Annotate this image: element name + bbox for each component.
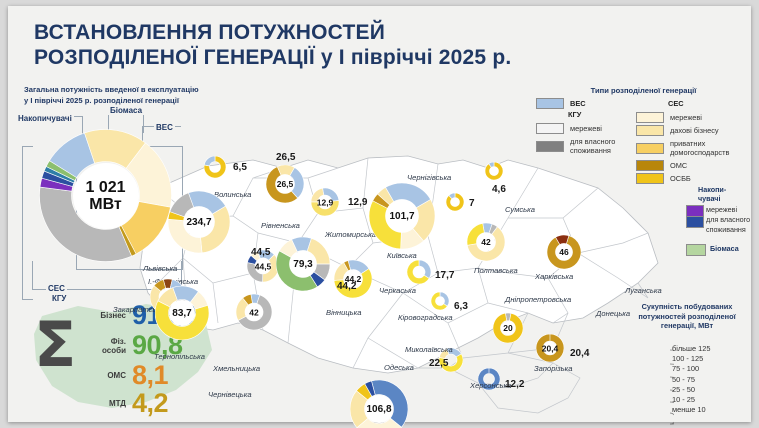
region-donut-center: 12,9 xyxy=(319,196,332,209)
region-value: 12,2 xyxy=(505,379,524,390)
region-label: Сумська xyxy=(505,205,535,214)
legend-acc-label-2: для власного споживання xyxy=(706,215,759,234)
region-label: Луганська xyxy=(625,286,662,295)
size-class: більше 125 xyxy=(672,344,710,354)
legend-label: мережеві xyxy=(670,113,702,122)
region-donut: 79,3 xyxy=(276,237,330,291)
region-donut-center: 79,3 xyxy=(290,251,316,277)
legend-size-arcs xyxy=(614,340,674,426)
swatch-biomass xyxy=(686,244,706,256)
infographic-stage: ВСТАНОВЛЕННЯ ПОТУЖНОСТЕЙ РОЗПОДІЛЕНОЇ ГЕ… xyxy=(0,0,759,428)
region-donut-value: 46 xyxy=(559,247,568,257)
region-value: 6,3 xyxy=(454,301,468,312)
region-donut: 26,5 xyxy=(266,165,304,203)
swatch-ses-business xyxy=(636,125,664,136)
legend-size-title-2: потужностей розподіленої xyxy=(614,312,759,322)
legend-item: мережеві xyxy=(636,112,754,123)
region-donut: 42 xyxy=(236,294,272,330)
region-donut-value: 26,5 xyxy=(277,179,294,189)
region-label: Київська xyxy=(387,251,417,260)
region-label: Харківська xyxy=(535,272,573,281)
title-line-1: ВСТАНОВЛЕННЯ ПОТУЖНОСТЕЙ xyxy=(34,20,554,45)
region-donut: 83,7 xyxy=(155,286,209,340)
region-donut-value: 234,7 xyxy=(186,217,211,228)
region-donut xyxy=(431,292,449,310)
region-donut: 46 xyxy=(547,235,581,269)
size-class: менше 10 xyxy=(672,405,710,415)
infographic-card: ВСТАНОВЛЕННЯ ПОТУЖНОСТЕЙ РОЗПОДІЛЕНОЇ ГЕ… xyxy=(8,6,751,422)
size-class: 10 - 25 xyxy=(672,395,710,405)
region-donut: 101,7 xyxy=(369,183,435,249)
swatch-kgu-own xyxy=(536,141,564,152)
legend-item: КГУ xyxy=(568,109,636,120)
size-class: 50 - 75 xyxy=(672,375,710,385)
legend-types-title: Типи розподіленої генерації xyxy=(536,86,751,95)
legend-label: мережеві xyxy=(570,124,602,133)
region-value: 26,5 xyxy=(276,152,295,163)
region-donut: 106,8 xyxy=(350,380,408,428)
region-value: 22,5 xyxy=(429,358,448,369)
legend-acc-label-1: мережеві xyxy=(706,205,759,215)
region-donut-value: 101,7 xyxy=(389,211,414,222)
region-donut-value: 44,5 xyxy=(255,261,272,271)
region-label: Львівська xyxy=(143,264,177,273)
region-label: Черкаська xyxy=(379,286,416,295)
region-label: Дніпропетровська xyxy=(505,295,571,304)
region-label: Рівненська xyxy=(261,221,300,230)
legend-label: ОМС xyxy=(670,161,687,170)
legend-biomass-label: Біомаса xyxy=(710,244,759,253)
swatch-ses-osbb xyxy=(636,173,664,184)
region-donut-value: 20,4 xyxy=(542,343,559,353)
region-donut-value: 83,7 xyxy=(172,308,191,319)
legend-item: ВЕС xyxy=(536,98,636,109)
legend-size-title-1: Сукупність побудованих xyxy=(614,302,759,312)
legend-item: приватних домогосподарств xyxy=(636,138,754,158)
region-value: 20,4 xyxy=(570,348,589,359)
legend-label: дахові бізнесу xyxy=(670,126,719,135)
region-donut xyxy=(407,260,431,284)
size-class: 100 - 125 xyxy=(672,354,710,364)
legend-item: дахові бізнесу xyxy=(636,125,754,136)
region-donut xyxy=(446,193,464,211)
region-donut: 44,2 xyxy=(334,260,372,298)
legend-item: мережеві xyxy=(536,123,636,134)
region-donut xyxy=(204,156,226,178)
region-label: Чернівецька xyxy=(208,390,252,399)
region-donut-value: 20 xyxy=(503,323,512,333)
region-value: 6,5 xyxy=(233,162,247,173)
legend-accumulators: Накопи- чувачі мережеві для власного спо… xyxy=(698,186,759,253)
region-label: Чернігівська xyxy=(407,173,451,182)
region-donut-value: 42 xyxy=(481,237,490,247)
legend-size-title-3: генерації, МВт xyxy=(614,321,759,331)
region-label: Тернопільська xyxy=(154,352,205,361)
region-donut: 20,4 xyxy=(536,334,564,362)
region-donut-center: 42 xyxy=(477,233,495,251)
legend-label: СЕС xyxy=(668,99,684,108)
legend-types-left: ВЕС КГУ мережеві для власного споживання xyxy=(536,98,636,156)
page-title: ВСТАНОВЛЕННЯ ПОТУЖНОСТЕЙ РОЗПОДІЛЕНОЇ ГЕ… xyxy=(34,20,554,70)
region-donut-value: 79,3 xyxy=(293,259,312,270)
region-label: Запорізька xyxy=(534,364,572,373)
swatch-ses-oms xyxy=(636,160,664,171)
title-line-2: РОЗПОДІЛЕНОЇ ГЕНЕРАЦІЇ у I півріччі 2025… xyxy=(34,45,554,70)
region-value: 12,9 xyxy=(348,197,367,208)
region-donut-center: 106,8 xyxy=(365,395,393,423)
region-donut-center: 44,5 xyxy=(256,259,271,274)
legend-item: для власного споживання xyxy=(536,136,636,156)
region-value: 7 xyxy=(469,198,475,209)
region-donut xyxy=(485,162,503,180)
legend-label: ВЕС xyxy=(570,99,586,108)
region-label: Одеська xyxy=(384,363,414,372)
region-donut: 42 xyxy=(467,223,505,261)
swatch-acc-own xyxy=(686,216,704,228)
region-label: Полтавська xyxy=(474,266,518,275)
region-value: 4,6 xyxy=(492,184,506,195)
region-value: 17,7 xyxy=(435,270,454,281)
legend-item: ОСББ xyxy=(636,173,754,184)
legend-label: приватних домогосподарств xyxy=(670,139,748,158)
region-label: Хмельницька xyxy=(213,364,260,373)
legend-label: для власного споживання xyxy=(570,137,630,156)
legend-types-right: СЕС мережеві дахові бізнесу приватних до… xyxy=(636,98,754,184)
legend-label: КГУ xyxy=(568,110,581,119)
region-donut-center: 42 xyxy=(246,304,263,321)
region-donut: 12,9 xyxy=(311,188,339,216)
region-value: 44,2 xyxy=(337,281,356,292)
region-donut-center: 101,7 xyxy=(386,200,418,232)
swatch-ses-grid xyxy=(636,112,664,123)
region-donut-center: 83,7 xyxy=(169,300,195,326)
region-donut-center: 234,7 xyxy=(184,207,214,237)
region-donut-center: 20 xyxy=(501,321,515,335)
region-donut-center: 46 xyxy=(556,244,572,260)
region-donut: 20 xyxy=(493,313,523,343)
region-donut-center: 26,5 xyxy=(276,175,294,193)
legend-item: ОМС xyxy=(636,160,754,171)
region-label: Кіровоградська xyxy=(398,313,453,322)
swatch-ses-private xyxy=(636,143,664,154)
swatch-kgu-grid xyxy=(536,123,564,134)
region-donut-value: 106,8 xyxy=(366,404,391,415)
region-label: Миколаївська xyxy=(405,345,453,354)
region-donut-value: 42 xyxy=(249,307,258,317)
legend-item: СЕС xyxy=(668,98,754,109)
region-donut-center: 20,4 xyxy=(544,342,557,355)
size-class: 75 - 100 xyxy=(672,364,710,374)
legend-acc-title-2: чувачі xyxy=(698,195,759,204)
legend-bubble-size: Сукупність побудованих потужностей розпо… xyxy=(614,302,759,331)
swatch-wind xyxy=(536,98,564,109)
region-donut: 234,7 xyxy=(168,191,230,253)
legend-size-classes: більше 125 100 - 125 75 - 100 50 - 75 25… xyxy=(672,344,710,415)
region-value: 44,5 xyxy=(251,247,270,258)
legend-label: ОСББ xyxy=(670,174,691,183)
region-label: Вінницька xyxy=(326,308,361,317)
region-donut-value: 12,9 xyxy=(317,197,334,207)
size-class: 25 - 50 xyxy=(672,385,710,395)
legend-generation-types: Типи розподіленої генерації ВЕС КГУ мере… xyxy=(536,86,751,101)
